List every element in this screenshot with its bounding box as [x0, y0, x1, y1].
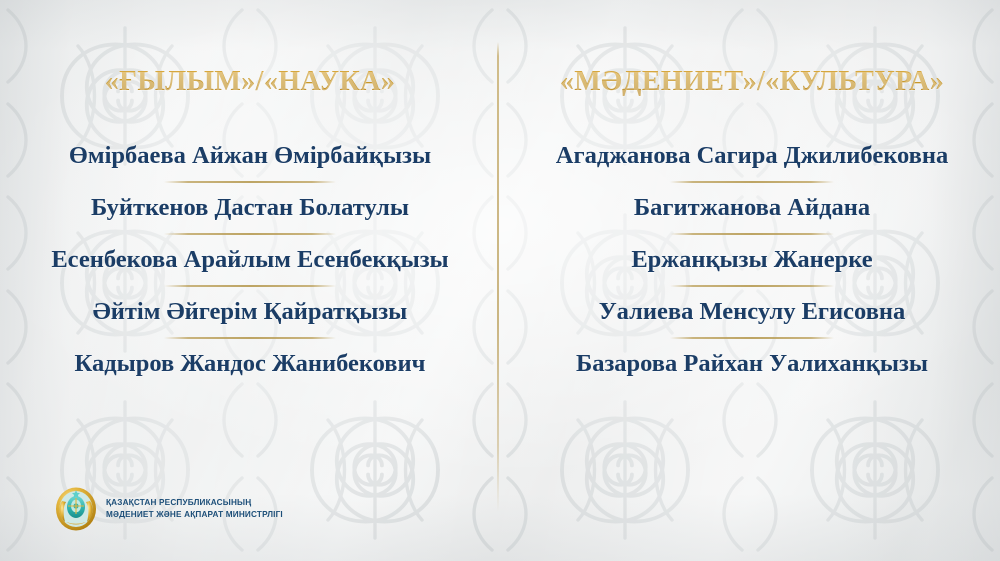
list-item: Әйтім Әйгерім Қайратқызы	[26, 294, 474, 331]
nominee-name: Өмірбаева Айжан Өмірбайқызы	[69, 138, 431, 175]
name-list-culture: Агаджанова Сагира Джилибековна Багитжано…	[526, 138, 978, 382]
name-separator	[164, 227, 336, 242]
name-separator	[670, 279, 834, 294]
nominee-name: Кадыров Жандос Жанибекович	[75, 346, 426, 383]
nominee-name: Багитжанова Айдана	[634, 190, 870, 227]
column-culture: «МӘДЕНИЕТ»/«КУЛЬТУРА» Агаджанова Сагира …	[500, 0, 1000, 561]
nominee-name: Агаджанова Сагира Джилибековна	[556, 138, 948, 175]
nominee-name: Базарова Райхан Уалиханқызы	[576, 346, 928, 383]
column-title-culture: «МӘДЕНИЕТ»/«КУЛЬТУРА»	[560, 66, 944, 98]
kazakhstan-coat-of-arms-emblem	[55, 487, 97, 531]
ministry-line-2: МӘДЕНИЕТ ЖӘНЕ АҚПАРАТ МИНИСТРЛІГІ	[106, 509, 283, 521]
list-item: Уалиева Менсулу Егисовна	[526, 294, 978, 331]
nominee-name: Әйтім Әйгерім Қайратқызы	[93, 294, 408, 331]
nominee-name: Есенбекова Арайлым Есенбекқызы	[51, 242, 448, 279]
name-separator	[670, 227, 834, 242]
nominee-name: Буйткенов Дастан Болатулы	[91, 190, 409, 227]
columns-container: «ҒЫЛЫМ»/«НАУКА» Өмірбаева Айжан Өмірбайқ…	[0, 0, 1000, 561]
slide-root: «ҒЫЛЫМ»/«НАУКА» Өмірбаева Айжан Өмірбайқ…	[0, 0, 1000, 561]
name-separator	[670, 331, 834, 346]
list-item: Кадыров Жандос Жанибекович	[26, 346, 474, 383]
list-item: Багитжанова Айдана	[526, 190, 978, 227]
nominee-name: Ержанқызы Жанерке	[631, 242, 872, 279]
list-item: Есенбекова Арайлым Есенбекқызы	[26, 242, 474, 279]
name-separator	[164, 279, 336, 294]
name-separator	[164, 331, 336, 346]
column-title-science: «ҒЫЛЫМ»/«НАУКА»	[105, 66, 395, 98]
nominee-name: Уалиева Менсулу Егисовна	[599, 294, 906, 331]
list-item: Базарова Райхан Уалиханқызы	[526, 346, 978, 383]
list-item: Өмірбаева Айжан Өмірбайқызы	[26, 138, 474, 175]
ministry-name: ҚАЗАҚСТАН РЕСПУБЛИКАСЫНЫҢ МӘДЕНИЕТ ЖӘНЕ …	[106, 497, 283, 520]
list-item: Агаджанова Сагира Джилибековна	[526, 138, 978, 175]
list-item: Буйткенов Дастан Болатулы	[26, 190, 474, 227]
ministry-line-1: ҚАЗАҚСТАН РЕСПУБЛИКАСЫНЫҢ	[106, 498, 251, 507]
footer-branding: ҚАЗАҚСТАН РЕСПУБЛИКАСЫНЫҢ МӘДЕНИЕТ ЖӘНЕ …	[55, 487, 283, 531]
name-list-science: Өмірбаева Айжан Өмірбайқызы Буйткенов Да…	[26, 138, 474, 382]
list-item: Ержанқызы Жанерке	[526, 242, 978, 279]
name-separator	[164, 175, 336, 190]
column-science: «ҒЫЛЫМ»/«НАУКА» Өмірбаева Айжан Өмірбайқ…	[0, 0, 500, 561]
name-separator	[670, 175, 834, 190]
